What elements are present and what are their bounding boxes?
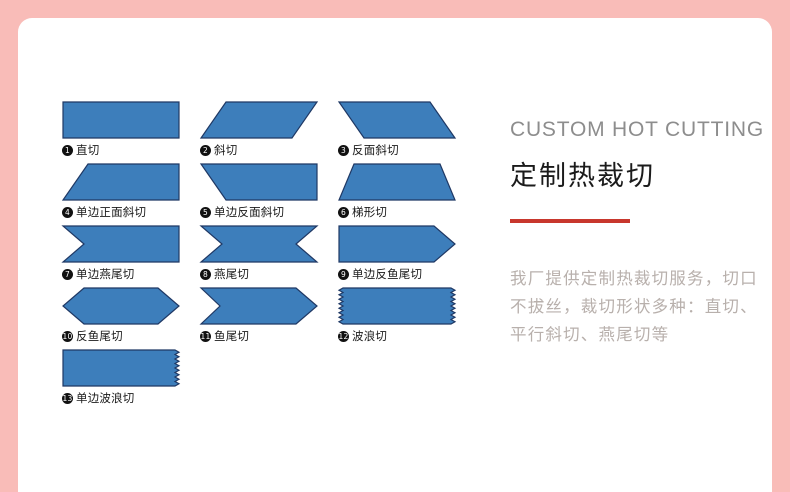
shape-number-badge: 11	[200, 331, 211, 342]
shape-label-text: 直切	[76, 145, 99, 157]
shape-number-badge: 13	[62, 393, 73, 404]
shape-cell-single-side-back-bevel-cut[interactable]: 5单边反面斜切	[200, 162, 318, 220]
shape-label-reverse-bevel-cut: 3反面斜切	[338, 144, 456, 158]
shape-graphic-straight-cut	[62, 100, 180, 140]
shape-number-badge: 9	[338, 269, 349, 280]
shape-label-trapezoid-cut: 6梯形切	[338, 206, 456, 220]
shape-label-text: 反鱼尾切	[76, 331, 123, 343]
accent-divider	[510, 219, 630, 223]
shape-number-badge: 1	[62, 145, 73, 156]
shape-label-single-side-dovetail-cut: 7单边燕尾切	[62, 268, 180, 282]
shape-cell-trapezoid-cut[interactable]: 6梯形切	[338, 162, 456, 220]
shape-label-text: 燕尾切	[214, 269, 249, 281]
shape-graphic-reverse-fishtail-cut	[62, 286, 180, 326]
shape-label-single-side-reverse-fishtail-cut: 9单边反鱼尾切	[338, 268, 456, 282]
shape-label-text: 单边反鱼尾切	[352, 269, 422, 281]
text-panel: CUSTOM HOT CUTTING 定制热裁切 我厂提供定制热裁切服务，切口不…	[510, 118, 772, 349]
shape-label-text: 单边反面斜切	[214, 207, 284, 219]
shape-label-bevel-cut: 2斜切	[200, 144, 318, 158]
shape-label-single-side-front-bevel-cut: 4单边正面斜切	[62, 206, 180, 220]
shape-label-text: 反面斜切	[352, 145, 399, 157]
shape-graphic-single-side-dovetail-cut	[62, 224, 180, 264]
shape-label-text: 斜切	[214, 145, 237, 157]
shape-number-badge: 10	[62, 331, 73, 342]
shape-graphic-single-side-wave-cut	[62, 348, 180, 388]
page-root: 1直切2斜切3反面斜切4单边正面斜切5单边反面斜切6梯形切7单边燕尾切8燕尾切9…	[0, 0, 790, 492]
shape-label-text: 单边正面斜切	[76, 207, 146, 219]
shape-label-text: 梯形切	[352, 207, 387, 219]
shape-number-badge: 6	[338, 207, 349, 218]
shape-number-badge: 12	[338, 331, 349, 342]
page-title: 定制热裁切	[510, 154, 772, 193]
shape-gallery: 1直切2斜切3反面斜切4单边正面斜切5单边反面斜切6梯形切7单边燕尾切8燕尾切9…	[62, 100, 462, 420]
content-card: 1直切2斜切3反面斜切4单边正面斜切5单边反面斜切6梯形切7单边燕尾切8燕尾切9…	[18, 18, 772, 492]
shape-number-badge: 5	[200, 207, 211, 218]
shape-label-single-side-back-bevel-cut: 5单边反面斜切	[200, 206, 318, 220]
shape-graphic-fishtail-cut	[200, 286, 318, 326]
shape-cell-fishtail-cut[interactable]: 11鱼尾切	[200, 286, 318, 344]
shape-cell-single-side-dovetail-cut[interactable]: 7单边燕尾切	[62, 224, 180, 282]
shape-number-badge: 7	[62, 269, 73, 280]
shape-number-badge: 4	[62, 207, 73, 218]
shape-label-wave-cut: 12波浪切	[338, 330, 456, 344]
shape-graphic-dovetail-cut	[200, 224, 318, 264]
shape-number-badge: 8	[200, 269, 211, 280]
shape-number-badge: 3	[338, 145, 349, 156]
shape-label-dovetail-cut: 8燕尾切	[200, 268, 318, 282]
shape-label-reverse-fishtail-cut: 10反鱼尾切	[62, 330, 180, 344]
shape-graphic-wave-cut	[338, 286, 456, 326]
shape-cell-reverse-fishtail-cut[interactable]: 10反鱼尾切	[62, 286, 180, 344]
shape-cell-reverse-bevel-cut[interactable]: 3反面斜切	[338, 100, 456, 158]
shape-graphic-single-side-reverse-fishtail-cut	[338, 224, 456, 264]
shape-graphic-single-side-front-bevel-cut	[62, 162, 180, 202]
shape-label-straight-cut: 1直切	[62, 144, 180, 158]
shape-cell-wave-cut[interactable]: 12波浪切	[338, 286, 456, 344]
shape-cell-single-side-reverse-fishtail-cut[interactable]: 9单边反鱼尾切	[338, 224, 456, 282]
shape-graphic-single-side-back-bevel-cut	[200, 162, 318, 202]
shape-cell-bevel-cut[interactable]: 2斜切	[200, 100, 318, 158]
description-text: 我厂提供定制热裁切服务，切口不拔丝，裁切形状多种：直切、平行斜切、燕尾切等	[510, 265, 772, 349]
shape-graphic-bevel-cut	[200, 100, 318, 140]
shape-label-text: 鱼尾切	[214, 331, 249, 343]
shape-cell-single-side-wave-cut[interactable]: 13单边波浪切	[62, 348, 180, 406]
shape-label-fishtail-cut: 11鱼尾切	[200, 330, 318, 344]
shape-cell-single-side-front-bevel-cut[interactable]: 4单边正面斜切	[62, 162, 180, 220]
shape-label-single-side-wave-cut: 13单边波浪切	[62, 392, 180, 406]
shape-label-text: 波浪切	[352, 331, 387, 343]
shape-cell-dovetail-cut[interactable]: 8燕尾切	[200, 224, 318, 282]
shape-label-text: 单边波浪切	[76, 393, 135, 405]
shape-label-text: 单边燕尾切	[76, 269, 135, 281]
shape-number-badge: 2	[200, 145, 211, 156]
shape-graphic-trapezoid-cut	[338, 162, 456, 202]
shape-cell-straight-cut[interactable]: 1直切	[62, 100, 180, 158]
eyebrow-title: CUSTOM HOT CUTTING	[510, 118, 772, 142]
shape-graphic-reverse-bevel-cut	[338, 100, 456, 140]
